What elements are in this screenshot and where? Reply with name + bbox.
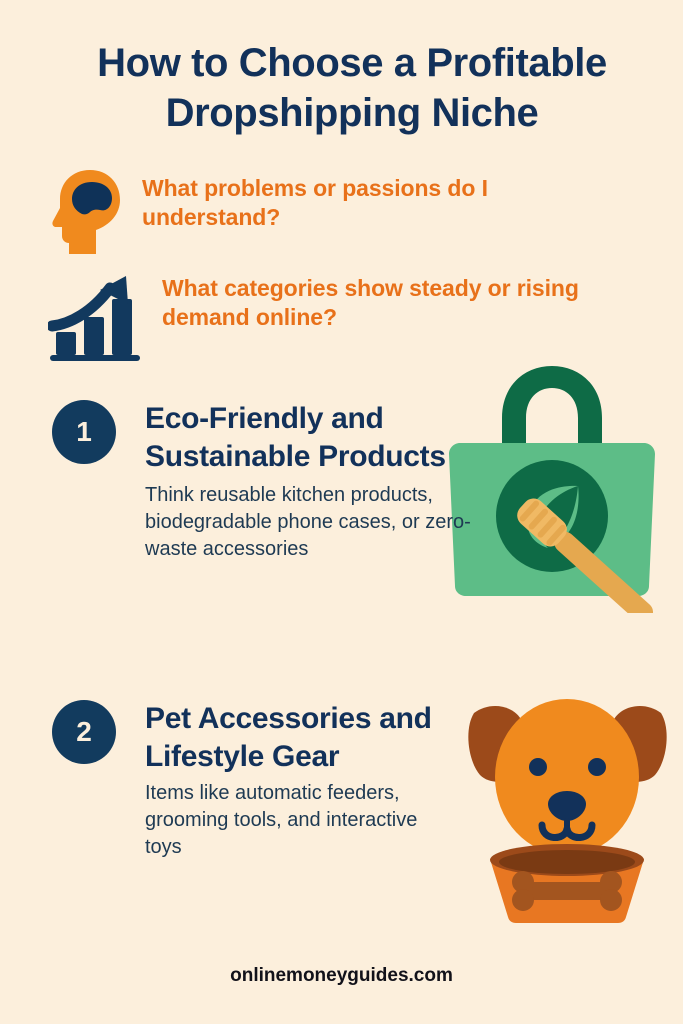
item-number-badge: 2 — [52, 700, 116, 764]
item-description: Think reusable kitchen products, biodegr… — [145, 482, 475, 563]
list-item: 2 Pet Accessories and Lifestyle Gear Ite… — [52, 700, 490, 881]
item-description: Items like automatic feeders, grooming t… — [145, 780, 445, 861]
list-item: 1 Eco-Friendly and Sustainable Products … — [52, 400, 485, 583]
question-row-1: What problems or passions do I understan… — [52, 168, 542, 261]
item-heading: Eco-Friendly and Sustainable Products — [145, 400, 485, 476]
growth-chart-icon — [48, 272, 144, 369]
question-text-2: What categories show steady or rising de… — [162, 272, 632, 332]
item-body: Eco-Friendly and Sustainable Products Th… — [145, 400, 485, 563]
item-number-badge: 1 — [52, 400, 116, 464]
footer-website: onlinemoneyguides.com — [0, 965, 683, 987]
question-row-2: What categories show steady or rising de… — [48, 272, 632, 369]
question-text-1: What problems or passions do I understan… — [142, 168, 542, 232]
item-body: Pet Accessories and Lifestyle Gear Items… — [145, 700, 490, 861]
infographic-page: How to Choose a Profitable Dropshipping … — [0, 0, 683, 1024]
head-brain-icon — [52, 168, 124, 261]
item-heading: Pet Accessories and Lifestyle Gear — [145, 700, 490, 776]
page-title: How to Choose a Profitable Dropshipping … — [52, 38, 652, 138]
